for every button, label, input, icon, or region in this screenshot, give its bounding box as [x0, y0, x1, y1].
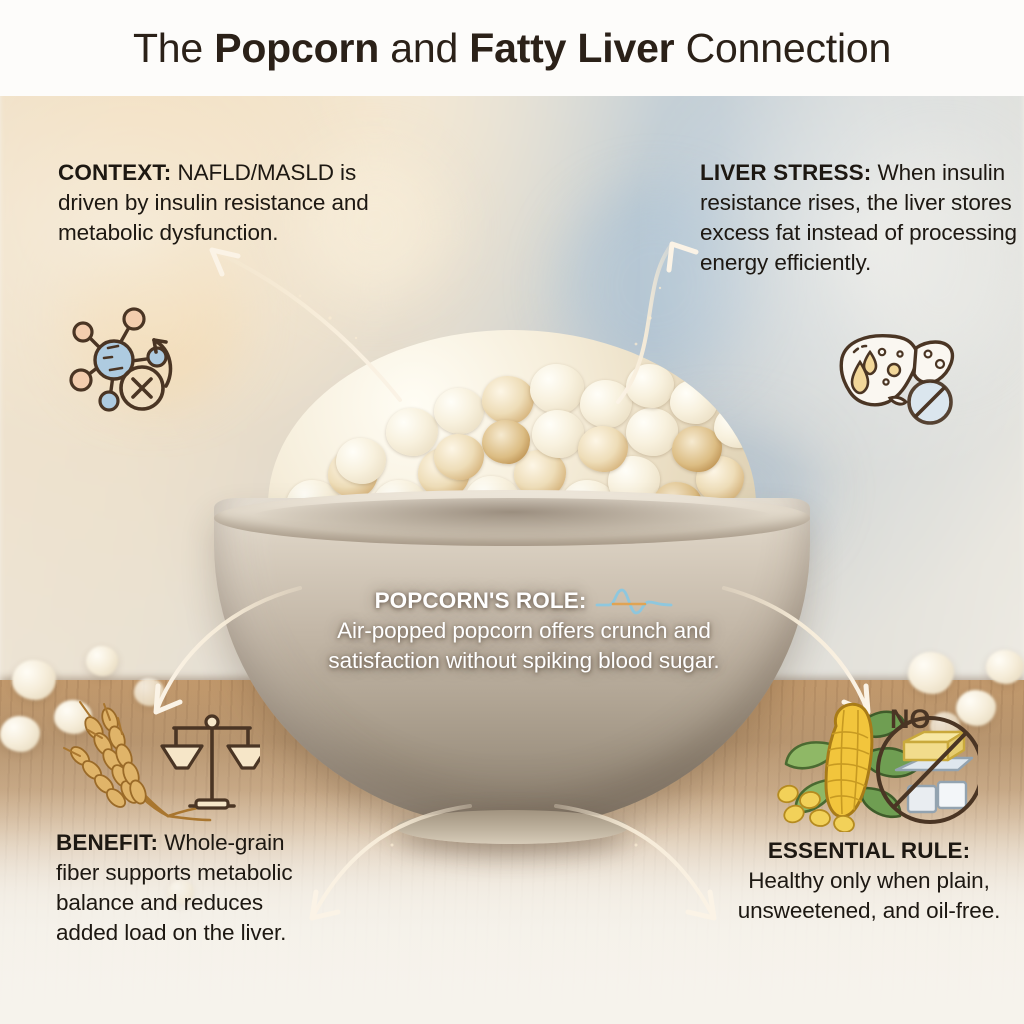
- loose-popcorn: [12, 660, 56, 700]
- callout-liver-stress: LIVER STRESS: When insulin resistance ri…: [700, 158, 1018, 278]
- wheat-and-balance-scale-icon: [56, 694, 260, 831]
- loose-popcorn: [986, 650, 1024, 684]
- molecule-insulin-resistance-icon: [62, 306, 194, 427]
- page-title: The Popcorn and Fatty Liver Connection: [133, 25, 891, 72]
- callout-popcorn-role-body: Air-popped popcorn offers crunch and sat…: [328, 616, 720, 676]
- title-bold-popcorn: Popcorn: [214, 25, 379, 71]
- callout-popcorn-role-lead: POPCORN'S ROLE:: [375, 586, 587, 616]
- title-bold-fatty-liver: Fatty Liver: [469, 25, 674, 71]
- loose-popcorn: [86, 646, 118, 676]
- callout-context-lead: CONTEXT:: [58, 160, 171, 185]
- callout-benefit: BENEFIT: Whole-grain fiber supports meta…: [56, 828, 316, 948]
- callout-essential-rule-body: Healthy only when plain, unsweetened, an…: [730, 866, 1008, 926]
- header-band: The Popcorn and Fatty Liver Connection: [0, 0, 1024, 96]
- title-part-1: The: [133, 25, 214, 71]
- title-part-2: and: [379, 25, 469, 71]
- bowl-inner-shadow: [248, 498, 776, 538]
- fatty-liver-prohibited-icon: [832, 322, 958, 435]
- callout-benefit-lead: BENEFIT:: [56, 830, 158, 855]
- bowl-foot: [396, 810, 628, 844]
- infographic-root: NO CONTEXT: NAFLD/MASLD is driven by ins…: [0, 0, 1024, 1024]
- callout-popcorn-role-head: POPCORN'S ROLE:: [328, 586, 720, 616]
- callout-popcorn-role: POPCORN'S ROLE: Air-popped popcorn offer…: [328, 586, 720, 676]
- loose-popcorn: [0, 716, 40, 752]
- callout-essential-rule: ESSENTIAL RULE: Healthy only when plain,…: [730, 836, 1008, 926]
- corn-no-butter-sugar-icon: NO: [772, 688, 978, 837]
- callout-context: CONTEXT: NAFLD/MASLD is driven by insuli…: [58, 158, 388, 248]
- callout-liver-stress-lead: LIVER STRESS:: [700, 160, 871, 185]
- blood-sugar-wave-icon: [595, 586, 673, 616]
- callout-essential-rule-lead: ESSENTIAL RULE:: [730, 836, 1008, 866]
- title-part-3: Connection: [674, 25, 891, 71]
